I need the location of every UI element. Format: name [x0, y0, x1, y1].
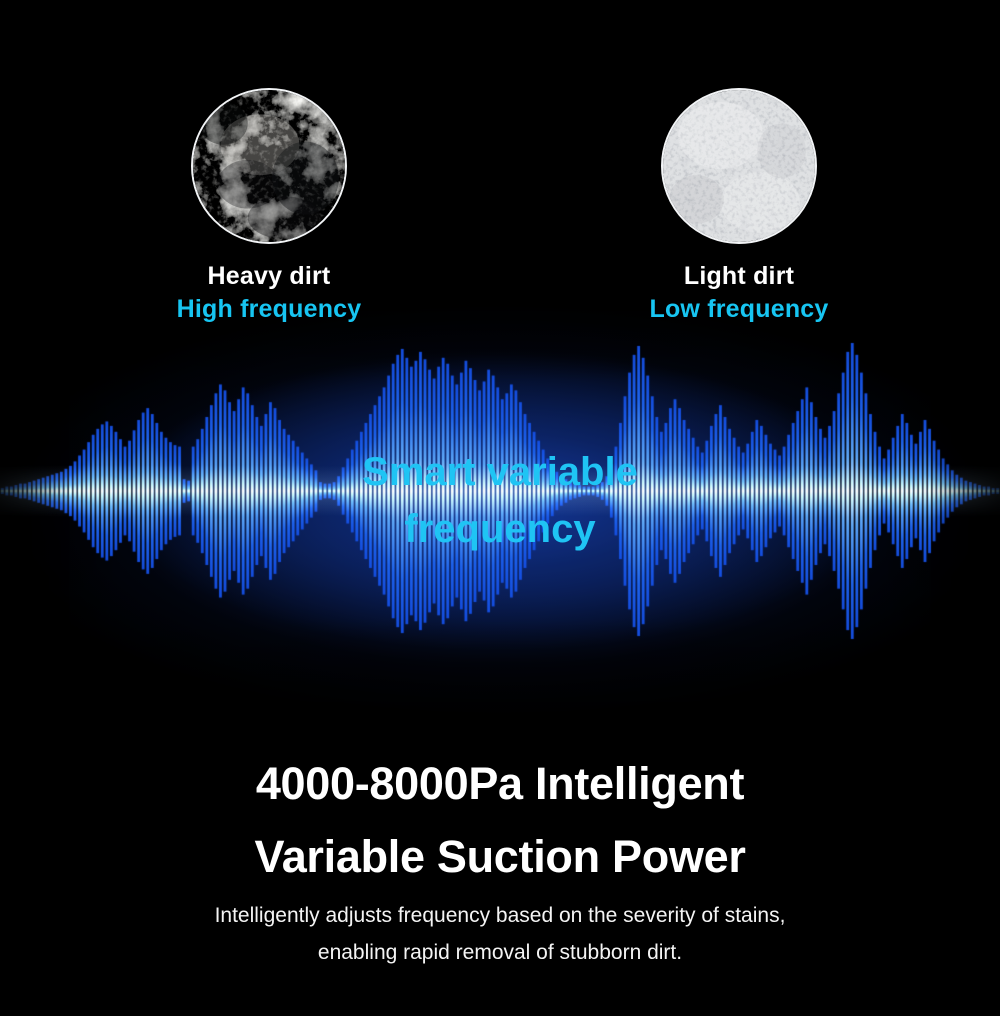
headline: 4000-8000Pa Intelligent Variable Suction…: [0, 748, 1000, 894]
sample-frequency: High frequency: [169, 295, 369, 324]
promo-banner: Heavy dirt High frequency: [0, 0, 1000, 1016]
waveform-caption: Smart variable frequency: [325, 444, 675, 558]
light-dirt-texture-icon: [661, 88, 817, 244]
sample-title: Heavy dirt: [169, 262, 369, 291]
sample-heavy-dirt: Heavy dirt High frequency: [169, 88, 369, 324]
heavy-dirt-texture-icon: [191, 88, 347, 244]
sample-frequency: Low frequency: [639, 295, 839, 324]
subcopy: Intelligently adjusts frequency based on…: [0, 898, 1000, 971]
subcopy-line1: Intelligently adjusts frequency based on…: [0, 898, 1000, 935]
waveform-caption-line2: frequency: [325, 501, 675, 558]
headline-line1: 4000-8000Pa Intelligent: [0, 748, 1000, 821]
subcopy-line2: enabling rapid removal of stubborn dirt.: [0, 935, 1000, 972]
headline-line2: Variable Suction Power: [0, 821, 1000, 894]
waveform-caption-line1: Smart variable: [325, 444, 675, 501]
sample-title: Light dirt: [639, 262, 839, 291]
sample-light-dirt: Light dirt Low frequency: [639, 88, 839, 324]
